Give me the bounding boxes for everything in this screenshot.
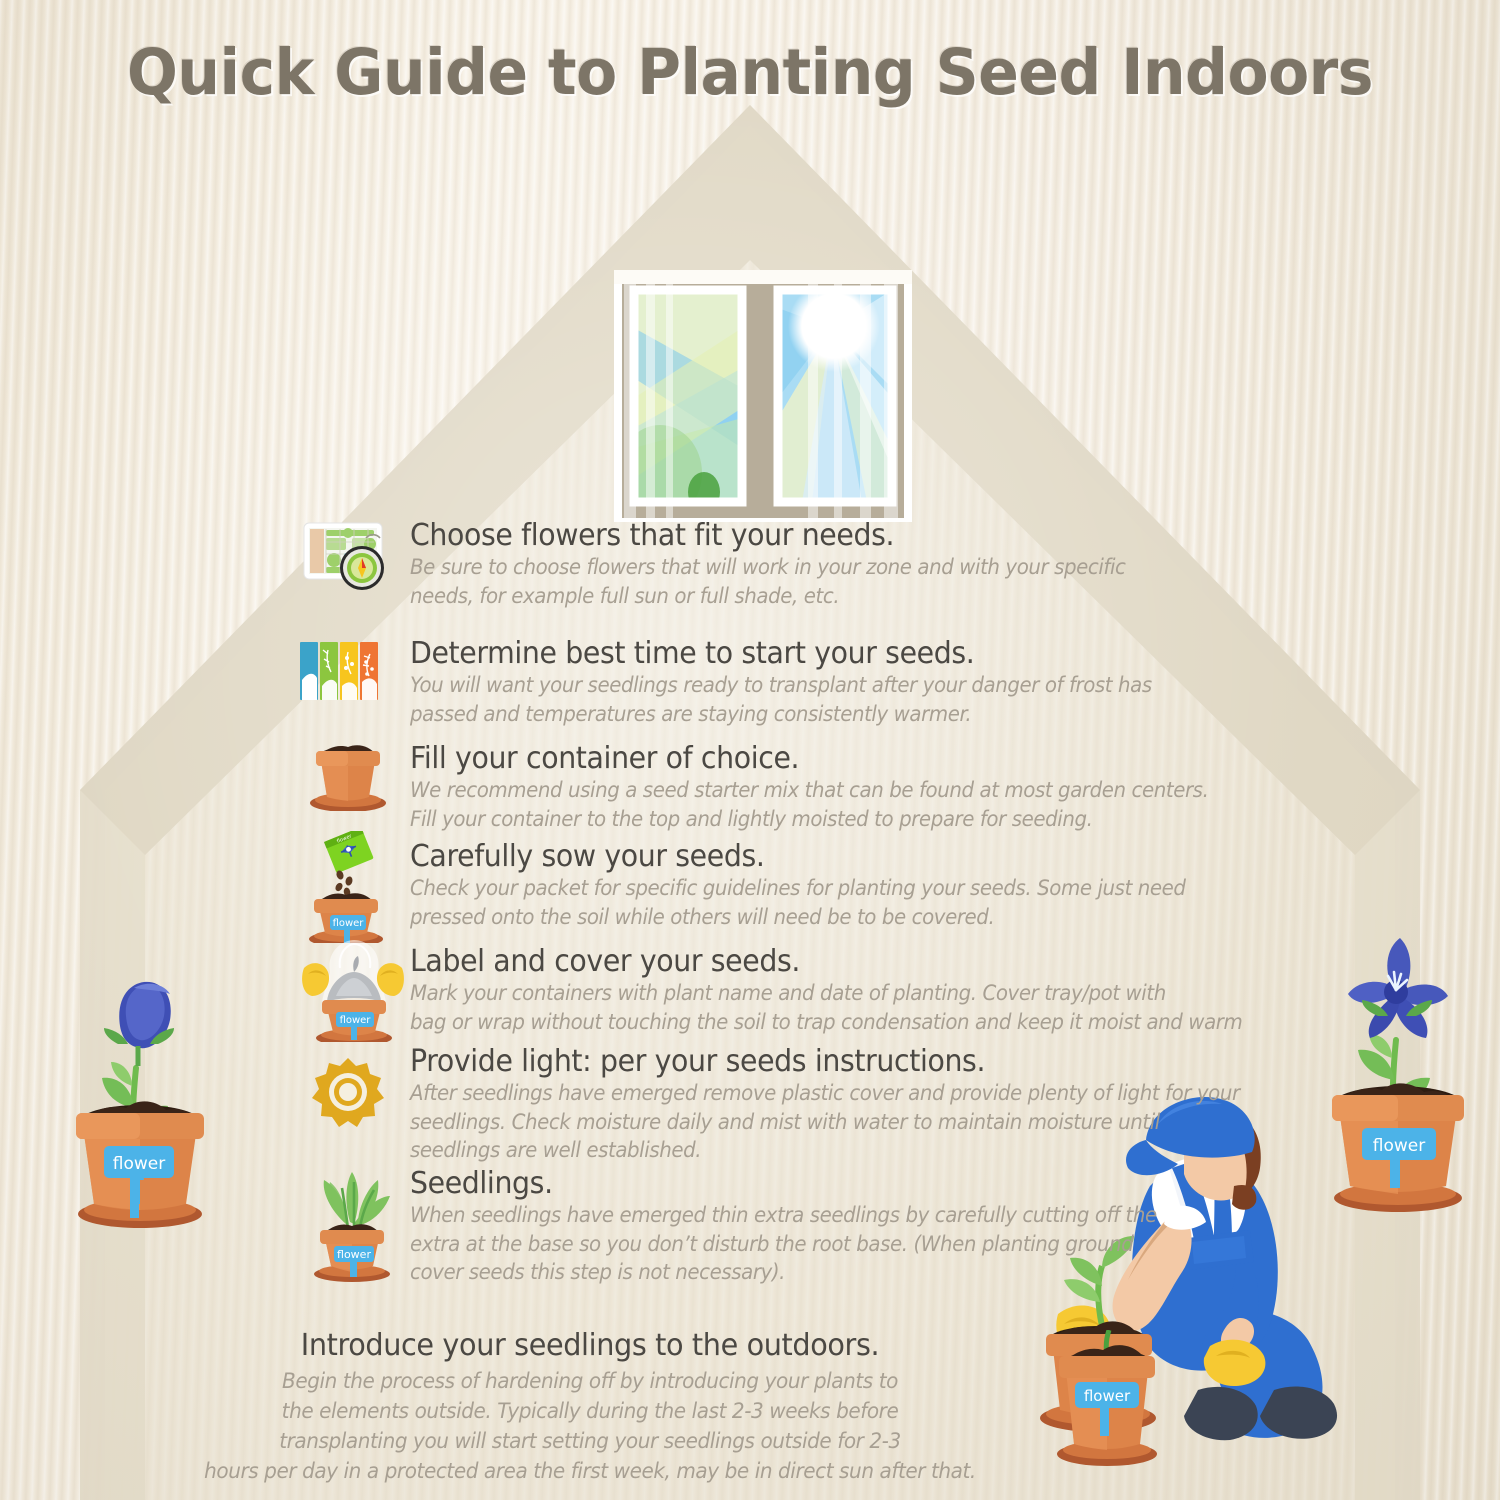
- sun-light-icon: [312, 1056, 410, 1133]
- step-body: Be sure to choose flowers that will work…: [410, 554, 1192, 611]
- step-item: Determine best time to start your seeds.…: [300, 638, 1260, 743]
- step-item: Provide light: per your seeds instructio…: [300, 1046, 1260, 1168]
- plant-tag-label: flower: [340, 1015, 372, 1026]
- step-body: After seedlings have emerged remove plas…: [410, 1080, 1192, 1166]
- plant-tag-label: flower: [113, 1154, 165, 1174]
- step-heading: Fill your container of choice.: [410, 743, 1201, 776]
- covered-pot-gloves-icon: flower: [302, 938, 400, 1047]
- step-heading: Carefully sow your seeds.: [410, 841, 1201, 874]
- step-item: flower: [300, 841, 1260, 946]
- plant-tag-label: flower: [1373, 1136, 1425, 1156]
- step-body: When seedlings have emerged thin extra s…: [410, 1202, 1192, 1288]
- step-body: You will want your seedlings ready to tr…: [410, 672, 1192, 729]
- page-title: Quick Guide to Planting Seed Indoors: [38, 36, 1463, 109]
- step-item: Fill your container of choice. We recomm…: [300, 743, 1260, 841]
- step-body: Check your packet for specific guideline…: [410, 875, 1192, 932]
- footer-body: Begin the process of hardening off by in…: [97, 1367, 1083, 1487]
- seed-packet-sowing-icon: flower: [300, 831, 398, 948]
- plant-tag-label: flower: [333, 918, 365, 929]
- step-heading: Provide light: per your seeds instructio…: [410, 1046, 1201, 1079]
- step-heading: Choose flowers that fit your needs.: [410, 520, 1201, 553]
- garden-plan-compass-icon: [300, 520, 398, 597]
- footer-section: Introduce your seedlings to the outdoors…: [60, 1328, 1120, 1487]
- footer-heading: Introduce your seedlings to the outdoors…: [92, 1328, 1088, 1363]
- step-heading: Seedlings.: [410, 1168, 1201, 1201]
- step-heading: Label and cover your seeds.: [410, 946, 1201, 979]
- step-item: Choose flowers that fit your needs. Be s…: [300, 520, 1260, 638]
- blue-flower-bud-pot: flower: [62, 958, 222, 1253]
- step-body: We recommend using a seed starter mix th…: [410, 777, 1192, 834]
- step-item: flower Seedlings. When seedlings have em…: [300, 1168, 1260, 1288]
- seedlings-pot-icon: flower: [302, 1162, 400, 1287]
- steps-list: Choose flowers that fit your needs. Be s…: [300, 520, 1260, 1288]
- step-heading: Determine best time to start your seeds.: [410, 638, 1201, 671]
- four-seasons-icon: [300, 642, 398, 709]
- infographic-canvas: Quick Guide to Planting Seed Indoors: [0, 0, 1500, 1500]
- filled-pot-icon: [300, 737, 398, 816]
- step-item: flower Label and cover your seeds. Mark …: [300, 946, 1260, 1046]
- plant-tag-label: flower: [337, 1248, 371, 1261]
- window-illustration: [612, 268, 914, 532]
- step-body: Mark your containers with plant name and…: [410, 980, 1192, 1037]
